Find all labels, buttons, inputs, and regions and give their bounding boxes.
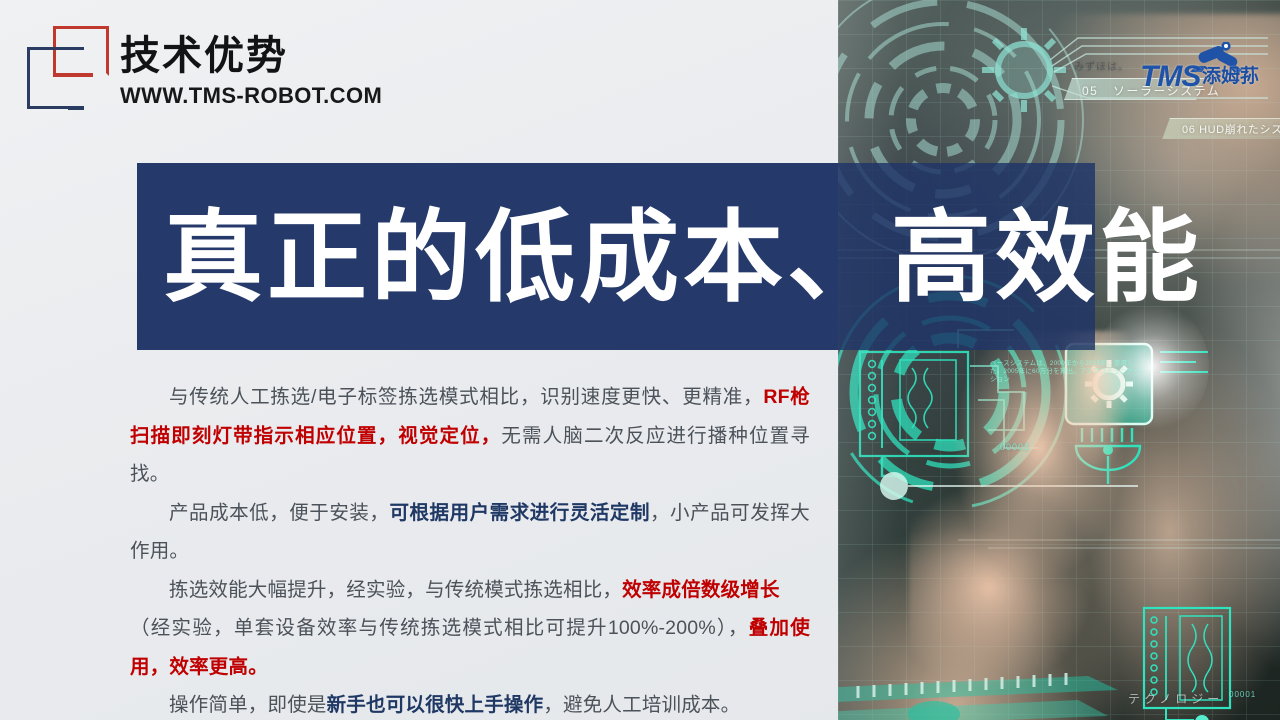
highlight-red: 效率成倍数级增长	[622, 579, 780, 601]
hud-strip-06-label: 06 HUD崩れたシステム	[1182, 121, 1280, 137]
body-paragraph: 与传统人工拣选/电子标签拣选模式相比，识别速度更快、更精准，RF枪扫描即刻灯带指…	[130, 378, 810, 494]
body-paragraph: 产品成本低，便于安装，可根据用户需求进行灵活定制，小产品可发挥大作用。	[130, 494, 810, 571]
body-text: ，避免人工培训成本。	[543, 694, 740, 716]
page-header: 技术优势 WWW.TMS-ROBOT.COM	[0, 0, 838, 140]
highlight-navy: 新手也可以很快上手操作	[327, 694, 544, 716]
company-logo-icon	[27, 26, 109, 110]
body-text: （经实验，单套设备效率与传统拣选模式相比可提升100%-200%），	[130, 617, 749, 639]
body-paragraph: 操作简单，即使是新手也可以很快上手操作，避免人工培训成本。	[130, 686, 810, 720]
hud-label-jp-bottom: テクノロジー	[1128, 690, 1223, 707]
hud-code-right: 00001	[1229, 690, 1256, 699]
tms-brand-cn: 添姆荪	[1202, 66, 1259, 88]
hud-strip-05-number: 05	[1082, 84, 1098, 98]
body-paragraph: 拣选效能大幅提升，经实验，与传统模式拣选相比，效率成倍数级增长	[130, 571, 810, 610]
body-text: 与传统人工拣选/电子标签拣选模式相比，识别速度更快、更精准，	[169, 386, 763, 408]
logo-bracket-navy	[27, 47, 83, 109]
body-text: 拣选效能大幅提升，经实验，与传统模式拣选相比，	[169, 579, 622, 601]
page-title: 技术优势	[120, 32, 382, 80]
highlight-navy: 可根据用户需求进行灵活定制	[389, 502, 650, 524]
hud-code-left: 00001	[1000, 442, 1030, 452]
hud-paragraph-text: ベースシステムは、2000年から2005年、使用した。2005年に60万分を算出…	[990, 360, 1140, 384]
body-text: 产品成本低，便于安装，	[169, 502, 389, 524]
company-website-url: WWW.TMS-ROBOT.COM	[120, 82, 382, 110]
body-paragraph: （经实验，单套设备效率与传统拣选模式相比可提升100%-200%），叠加使用，效…	[130, 609, 810, 686]
banner-headline: 真正的低成本、高效能	[163, 185, 1093, 330]
body-text: 操作简单，即使是	[169, 694, 327, 716]
header-text-block: 技术优势 WWW.TMS-ROBOT.COM	[120, 32, 382, 110]
slide-root: みずほは。 05 ソーラーシステム 06 HUD崩れたシステム テクノロジー 0…	[0, 0, 1280, 720]
tms-brand-text: TMS	[1140, 62, 1200, 92]
body-copy: 与传统人工拣选/电子标签拣选模式相比，识别速度更快、更精准，RF枪扫描即刻灯带指…	[130, 378, 810, 720]
hud-label-jp-top: みずほは。	[1074, 58, 1129, 73]
tms-watermark-logo: TMS 添姆荪	[1140, 44, 1266, 98]
